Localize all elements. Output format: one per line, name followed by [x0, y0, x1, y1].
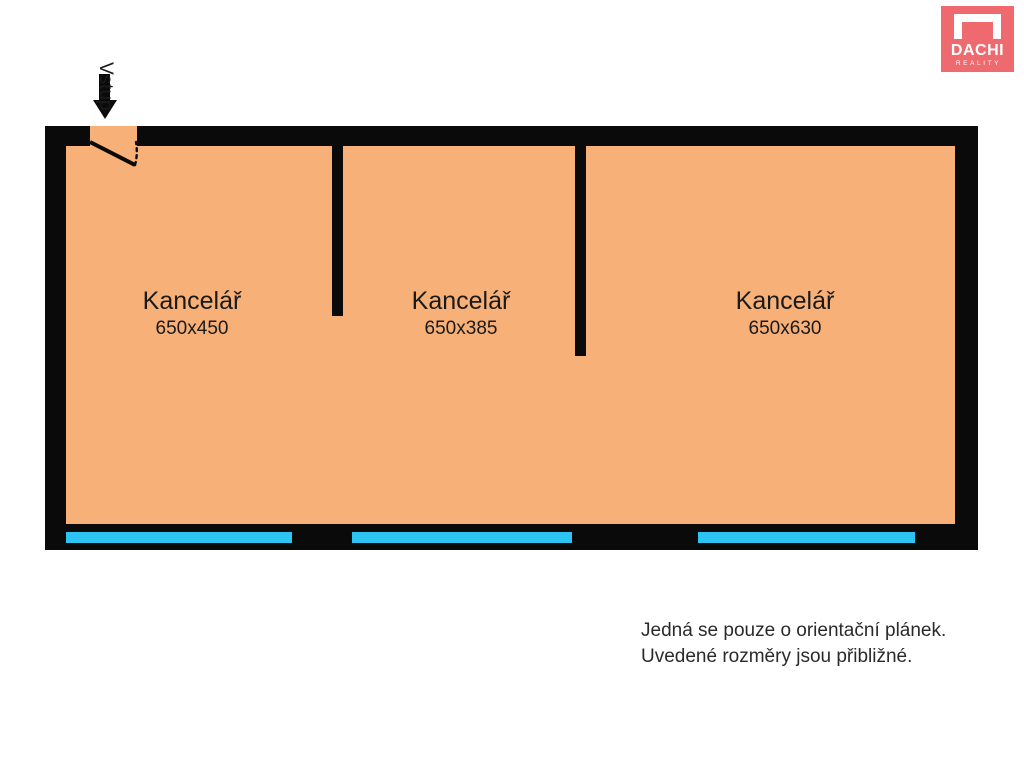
room-label-office-2: Kancelář 650x385 — [366, 286, 556, 342]
interior-partition-wall-1 — [332, 126, 343, 316]
room-name: Kancelář — [88, 286, 296, 316]
exterior-wall-top — [45, 126, 978, 146]
window-center — [352, 532, 572, 543]
disclaimer-note: Jedná se pouze o orientační plánek. Uved… — [641, 618, 981, 670]
room-dimensions: 650x630 — [685, 316, 885, 342]
exterior-wall-right — [955, 126, 978, 550]
room-label-office-1: Kancelář 650x450 — [88, 286, 296, 342]
exterior-wall-left — [45, 126, 66, 550]
entrance-marker: Vstup — [92, 70, 177, 126]
disclaimer-line-2: Uvedené rozměry jsou přibližné. — [641, 644, 981, 670]
room-name: Kancelář — [685, 286, 885, 316]
room-label-office-3: Kancelář 650x630 — [685, 286, 885, 342]
door-swing-icon — [88, 140, 143, 168]
room-name: Kancelář — [366, 286, 556, 316]
window-left — [66, 532, 292, 543]
disclaimer-line-1: Jedná se pouze o orientační plánek. — [641, 618, 981, 644]
window-right — [698, 532, 915, 543]
room-dimensions: 650x385 — [366, 316, 556, 342]
interior-partition-wall-2 — [575, 126, 586, 356]
entrance-label: Vstup — [94, 62, 116, 111]
room-dimensions: 650x450 — [88, 316, 296, 342]
